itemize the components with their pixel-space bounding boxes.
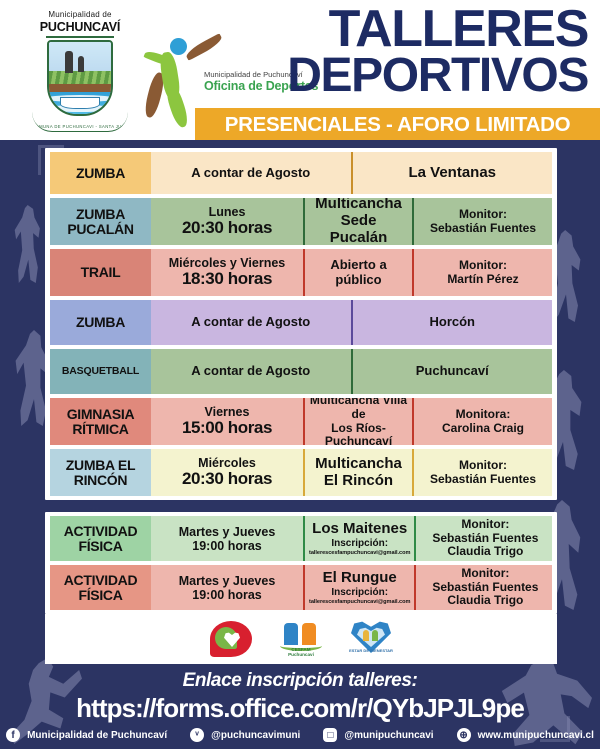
workshop-location: Puchuncaví xyxy=(351,349,553,394)
family-heart-logo-icon: ESTAR DE BIENESTAR xyxy=(348,619,394,659)
workshop-monitor: Monitor: Martín Pérez xyxy=(412,249,552,296)
website-label[interactable]: www.munipuchuncavi.cl xyxy=(478,730,594,741)
table-row[interactable]: ZUMBA EL RINCÓN Miércoles 20:30 horas Mu… xyxy=(50,449,552,496)
family-heart-logo-caption: ESTAR DE BIENESTAR xyxy=(348,649,394,653)
table-row[interactable]: GIMNASIA RÍTMICA Viernes 15:00 horas Mul… xyxy=(50,398,552,445)
workshop-location: Multicancha Villa de Los Ríos-Puchuncaví xyxy=(303,398,412,445)
table-row[interactable]: ACTIVIDAD FÍSICA Martes y Jueves 19:00 h… xyxy=(50,565,552,610)
workshop-name: ACTIVIDAD FÍSICA xyxy=(50,565,151,610)
twitter-label[interactable]: @puchuncavimuni xyxy=(211,730,300,741)
workshop-schedule: Miércoles y Viernes 18:30 horas xyxy=(151,249,303,296)
table-row[interactable]: ACTIVIDAD FÍSICA Martes y Jueves 19:00 h… xyxy=(50,516,552,561)
table-row[interactable]: BASQUETBALL A contar de Agosto Puchuncav… xyxy=(50,349,552,394)
workshop-monitor: Monitor: Sebastián Fuentes Claudia Trigo xyxy=(414,516,552,561)
workshop-monitor: Monitor: Sebastián Fuentes Claudia Trigo xyxy=(414,565,552,610)
workshop-monitor: Monitor: Sebastián Fuentes xyxy=(412,449,552,496)
runner-silhouette-icon xyxy=(12,205,46,283)
workshop-name: ZUMBA PUCALÁN xyxy=(50,198,151,245)
workshop-location: Horcón xyxy=(351,300,553,345)
crest-name: PUCHUNCAVÍ xyxy=(24,20,136,34)
instagram-icon[interactable]: □ xyxy=(323,728,337,742)
table-row[interactable]: ZUMBA PUCALÁN Lunes 20:30 horas Multican… xyxy=(50,198,552,245)
workshop-name: BASQUETBALL xyxy=(50,349,151,394)
header: Municipalidad de PUCHUNCAVÍ COMUNA DE PU… xyxy=(0,0,600,140)
workshop-schedule: Miércoles 20:30 horas xyxy=(151,449,303,496)
workshop-schedule: A contar de Agosto xyxy=(151,152,351,194)
instagram-label[interactable]: @munipuchuncavi xyxy=(344,730,433,741)
crest-muni-line: Municipalidad de xyxy=(24,10,136,19)
cesfam-logo-caption: CESFAM Puchuncaví xyxy=(280,647,322,657)
shield-icon xyxy=(47,40,113,116)
workshop-location: Los Maitenes Inscripción: tallerescesfam… xyxy=(303,516,414,561)
globe-icon[interactable]: ⊕ xyxy=(457,728,471,742)
registration-url[interactable]: https://forms.office.com/r/QYbJPJL9pe xyxy=(0,693,600,724)
workshop-location: La Ventanas xyxy=(351,152,553,194)
cesfam-logo-icon: CESFAM Puchuncaví xyxy=(278,619,324,659)
workshop-schedule: Viernes 15:00 horas xyxy=(151,398,303,445)
workshop-location: Abierto a público xyxy=(303,249,412,296)
workshop-schedule: Martes y Jueves 19:00 horas xyxy=(151,516,303,561)
social-links: f Municipalidad de Puchuncaví ᵛ @puchunc… xyxy=(0,728,600,742)
twitter-icon[interactable]: ᵛ xyxy=(190,728,204,742)
page-title: TALLERES DEPORTIVOS xyxy=(258,6,588,98)
inscripcion-label: Inscripción: xyxy=(331,538,388,550)
banner-presenciales: PRESENCIALES - AFORO LIMITADO xyxy=(195,108,600,140)
table-row[interactable]: ZUMBA A contar de Agosto La Ventanas xyxy=(50,152,552,194)
workshop-name: ZUMBA xyxy=(50,300,151,345)
inscripcion-email[interactable]: tallerescesfampuchuncavi@gmail.com xyxy=(309,599,410,606)
crest-ribbon: COMUNA DE PUCHUNCAVI - SANTA JULIA xyxy=(32,112,128,132)
banner-text: PRESENCIALES - AFORO LIMITADO xyxy=(225,113,571,137)
workshop-location: Multicancha El Rincón xyxy=(303,449,412,496)
table-row[interactable]: TRAIL Miércoles y Viernes 18:30 horas Ab… xyxy=(50,249,552,296)
workshop-name: ZUMBA EL RINCÓN xyxy=(50,449,151,496)
workshop-location: Multicancha Sede Pucalán xyxy=(303,198,412,245)
heart-hands-logo-icon xyxy=(208,619,254,659)
schedule-table-extra: ACTIVIDAD FÍSICA Martes y Jueves 19:00 h… xyxy=(45,512,557,614)
workshop-name: TRAIL xyxy=(50,249,151,296)
workshop-name: ZUMBA xyxy=(50,152,151,194)
workshop-schedule: Lunes 20:30 horas xyxy=(151,198,303,245)
workshop-location: El Rungue Inscripción: tallerescesfampuc… xyxy=(303,565,414,610)
sponsor-logo-strip: CESFAM Puchuncaví ESTAR DE BIENESTAR xyxy=(45,614,557,664)
workshop-monitor: Monitor: Sebastián Fuentes xyxy=(412,198,552,245)
enlace-label: Enlace inscripción talleres: xyxy=(0,670,600,692)
municipality-crest: Municipalidad de PUCHUNCAVÍ COMUNA DE PU… xyxy=(24,8,136,130)
facebook-label[interactable]: Municipalidad de Puchuncaví xyxy=(27,730,167,741)
crest-rule xyxy=(46,36,114,38)
workshop-schedule: A contar de Agosto xyxy=(151,300,351,345)
title-line-2: DEPORTIVOS xyxy=(258,54,588,98)
title-line-1: TALLERES xyxy=(258,6,588,54)
inscripcion-email[interactable]: tallerescesfampuchuncavi@gmail.com xyxy=(309,550,410,557)
schedule-table-main: ZUMBA A contar de Agosto La Ventanas ZUM… xyxy=(45,148,557,500)
workshop-name: ACTIVIDAD FÍSICA xyxy=(50,516,151,561)
workshop-monitor: Monitora: Carolina Craig xyxy=(412,398,552,445)
workshop-name: GIMNASIA RÍTMICA xyxy=(50,398,151,445)
table-row[interactable]: ZUMBA A contar de Agosto Horcón xyxy=(50,300,552,345)
running-figure-head-icon xyxy=(170,38,187,55)
workshop-schedule: Martes y Jueves 19:00 horas xyxy=(151,565,303,610)
inscripcion-label: Inscripción: xyxy=(331,587,388,599)
workshop-schedule: A contar de Agosto xyxy=(151,349,351,394)
facebook-icon[interactable]: f xyxy=(6,728,20,742)
